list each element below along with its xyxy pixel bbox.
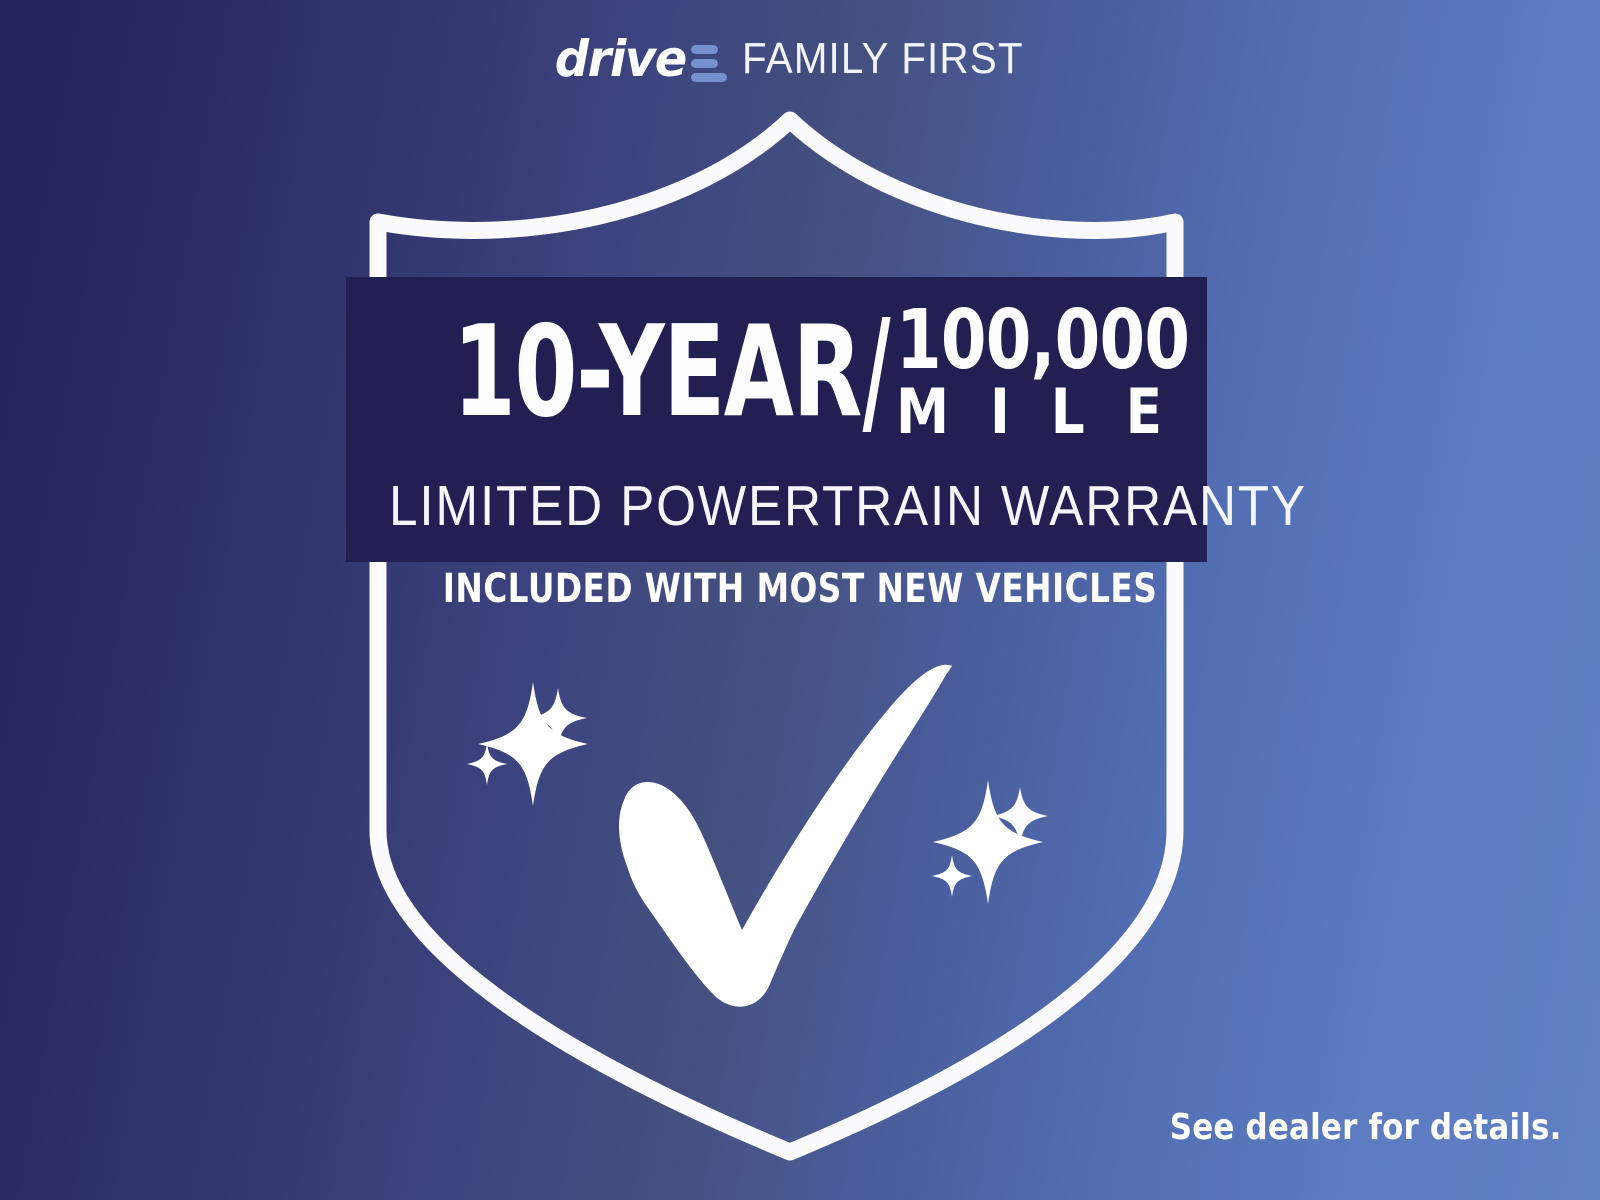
headline-separator: /	[862, 297, 890, 447]
headline-subline: LIMITED POWERTRAIN WARRANTY	[389, 473, 1164, 539]
headline-banner: 10-YEAR / 100,000 M I L E LIMITED POWERT…	[346, 277, 1207, 562]
headline-miles-group: 100,000 M I L E	[896, 297, 1262, 443]
checkmark-body	[619, 665, 952, 1007]
headline-row: 10-YEAR / 100,000 M I L E	[368, 297, 1188, 457]
shield-outline-icon	[378, 120, 1175, 1152]
disclaimer-text: See dealer for details.	[1170, 1107, 1562, 1148]
headline-years: 10-YEAR	[452, 297, 860, 447]
headline-mile-word: M I L E	[896, 381, 1173, 443]
warranty-badge-graphic: drive FAMILY FIRST 10-YEAR /	[0, 0, 1600, 1200]
headline-miles: 100,000	[896, 303, 1189, 379]
sparkle-cluster-icon	[467, 682, 588, 806]
sparkle-cluster-icon-right	[932, 780, 1048, 904]
included-note: INCLUDED WITH MOST NEW VEHICLES	[144, 566, 1456, 612]
